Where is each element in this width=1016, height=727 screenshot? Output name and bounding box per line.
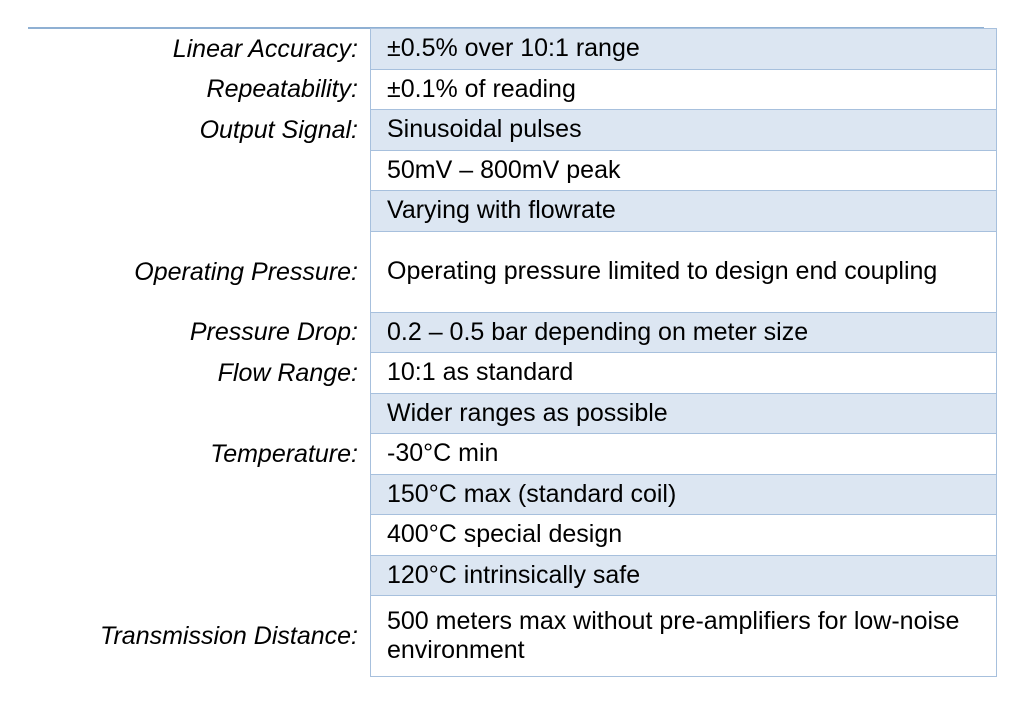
spec-label: Linear Accuracy: — [28, 29, 371, 70]
spec-value-text: 400°C special design — [387, 520, 988, 550]
spec-value: 50mV – 800mV peak — [371, 150, 997, 191]
spec-value-text: Sinusoidal pulses — [387, 115, 988, 145]
table-row: Flow Range:10:1 as standard — [28, 353, 997, 394]
spec-label — [28, 393, 371, 434]
spec-label: Pressure Drop: — [28, 312, 371, 353]
spec-value: -30°C min — [371, 434, 997, 475]
spec-label: Output Signal: — [28, 110, 371, 151]
specifications-table-body: Linear Accuracy:±0.5% over 10:1 rangeRep… — [28, 29, 997, 677]
spec-value-text: Wider ranges as possible — [387, 399, 988, 429]
spec-value-text: Operating pressure limited to design end… — [387, 257, 988, 287]
spec-value: 400°C special design — [371, 515, 997, 556]
table-row: Varying with flowrate — [28, 191, 997, 232]
spec-value: Operating pressure limited to design end… — [371, 231, 997, 312]
spec-value-text: 10:1 as standard — [387, 358, 988, 388]
spec-value: 500 meters max without pre-amplifiers fo… — [371, 596, 997, 677]
spec-value-text: 0.2 – 0.5 bar depending on meter size — [387, 318, 988, 348]
spec-value: 0.2 – 0.5 bar depending on meter size — [371, 312, 997, 353]
spec-value: ±0.1% of reading — [371, 69, 997, 110]
spec-value: Wider ranges as possible — [371, 393, 997, 434]
spec-value: 10:1 as standard — [371, 353, 997, 394]
spec-value: 120°C intrinsically safe — [371, 555, 997, 596]
spec-label — [28, 474, 371, 515]
table-row: Transmission Distance:500 meters max wit… — [28, 596, 997, 677]
table-row: Linear Accuracy:±0.5% over 10:1 range — [28, 29, 997, 70]
spec-label: Operating Pressure: — [28, 231, 371, 312]
spec-value: Varying with flowrate — [371, 191, 997, 232]
table-row: Wider ranges as possible — [28, 393, 997, 434]
specification-sheet: Linear Accuracy:±0.5% over 10:1 rangeRep… — [0, 0, 1016, 727]
table-row: Pressure Drop:0.2 – 0.5 bar depending on… — [28, 312, 997, 353]
spec-label — [28, 191, 371, 232]
table-row: 120°C intrinsically safe — [28, 555, 997, 596]
spec-label — [28, 150, 371, 191]
spec-value: 150°C max (standard coil) — [371, 474, 997, 515]
table-row: 50mV – 800mV peak — [28, 150, 997, 191]
spec-label: Transmission Distance: — [28, 596, 371, 677]
table-row: Repeatability:±0.1% of reading — [28, 69, 997, 110]
spec-value-text: -30°C min — [387, 439, 988, 469]
spec-value-text: 150°C max (standard coil) — [387, 480, 988, 510]
spec-value: ±0.5% over 10:1 range — [371, 29, 997, 70]
table-row: Output Signal:Sinusoidal pulses — [28, 110, 997, 151]
table-row: Operating Pressure:Operating pressure li… — [28, 231, 997, 312]
table-row: 400°C special design — [28, 515, 997, 556]
spec-value-text: 500 meters max without pre-amplifiers fo… — [387, 607, 988, 666]
spec-label — [28, 515, 371, 556]
table-row: 150°C max (standard coil) — [28, 474, 997, 515]
spec-value-text: 120°C intrinsically safe — [387, 561, 988, 591]
spec-value-text: 50mV – 800mV peak — [387, 156, 988, 186]
table-row: Temperature:-30°C min — [28, 434, 997, 475]
spec-value-text: ±0.5% over 10:1 range — [387, 34, 988, 64]
spec-value-text: Varying with flowrate — [387, 196, 988, 226]
specifications-table: Linear Accuracy:±0.5% over 10:1 rangeRep… — [28, 28, 997, 677]
spec-label — [28, 555, 371, 596]
spec-label: Temperature: — [28, 434, 371, 475]
spec-value-text: ±0.1% of reading — [387, 75, 988, 105]
spec-value: Sinusoidal pulses — [371, 110, 997, 151]
spec-label: Flow Range: — [28, 353, 371, 394]
spec-label: Repeatability: — [28, 69, 371, 110]
